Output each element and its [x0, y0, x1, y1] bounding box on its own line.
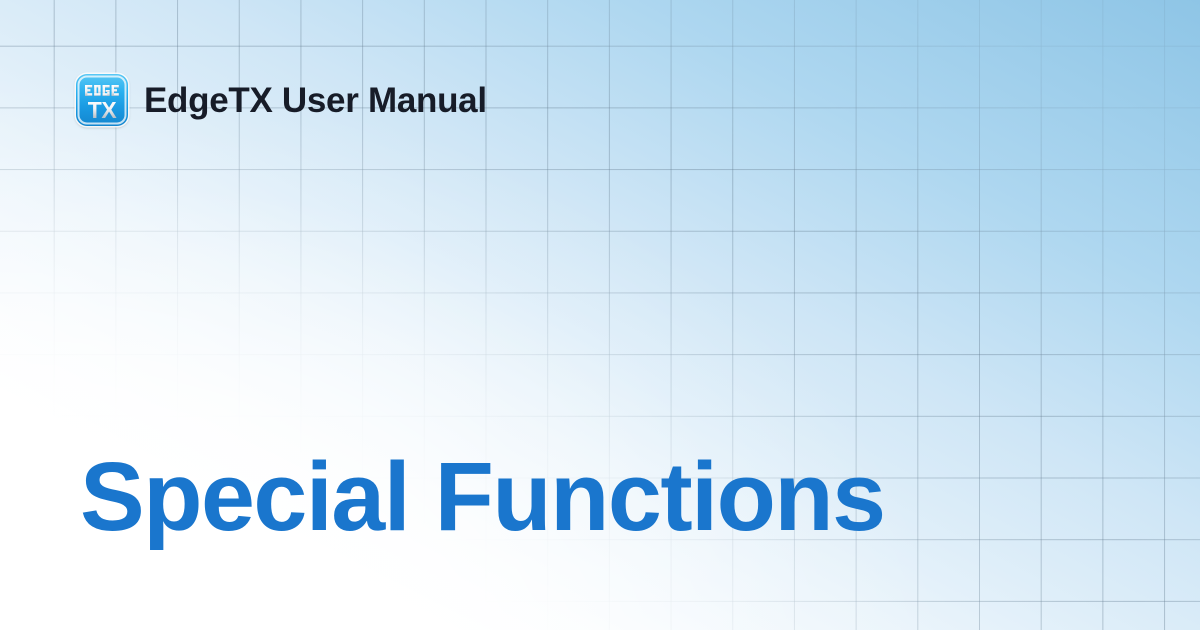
- header: TX EdgeTX User Manual: [76, 74, 487, 126]
- svg-text:TX: TX: [88, 97, 118, 123]
- edgetx-logo-icon: TX: [76, 74, 128, 126]
- main-heading: Special Functions: [80, 446, 885, 548]
- page-title: EdgeTX User Manual: [144, 83, 487, 118]
- cover-page: TX EdgeTX User Manual Special Functions: [0, 0, 1200, 630]
